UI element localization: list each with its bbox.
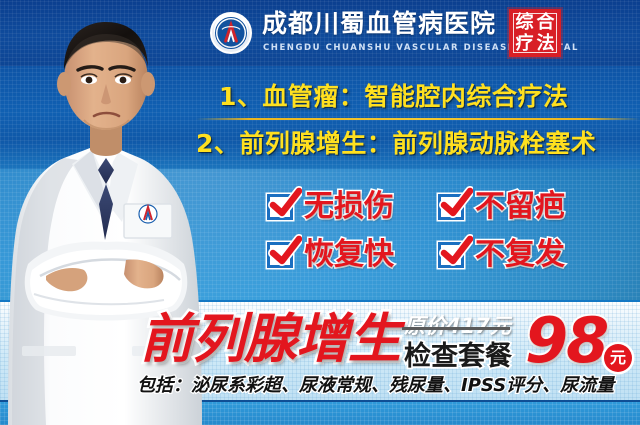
- original-price-strikethrough: [402, 327, 510, 330]
- stamp-char-0: 综: [514, 12, 535, 33]
- benefit-label: 无损伤: [304, 190, 394, 224]
- check-mark-icon: [268, 186, 302, 220]
- original-price: 原价417元: [404, 314, 511, 339]
- original-price-text: 原价417元: [404, 314, 511, 338]
- benefit-item-3: 不复发: [437, 238, 565, 272]
- hospital-emblem-icon: [210, 12, 252, 54]
- advertisement-banner: 成都川蜀血管病医院 CHENGDU CHUANSHU VASCULAR DISE…: [0, 0, 640, 425]
- package-label: 检查套餐: [404, 341, 512, 373]
- benefit-label: 恢复快: [304, 238, 394, 272]
- benefit-item-0: 无损伤: [266, 190, 394, 224]
- benefit-item-1: 不留疤: [437, 190, 565, 224]
- checkbox-checked-icon: [266, 192, 300, 222]
- checkbox-checked-icon: [437, 240, 471, 270]
- headline-divider: [196, 118, 640, 120]
- headline-item-2: 2、前列腺增生：前列腺动脉栓塞术: [196, 129, 596, 159]
- check-mark-icon: [439, 186, 473, 220]
- benefit-label: 不留疤: [475, 190, 565, 224]
- checkbox-checked-icon: [266, 240, 300, 270]
- check-mark-icon: [268, 234, 302, 268]
- hospital-name-cn: 成都川蜀血管病医院: [262, 9, 496, 39]
- price-unit: 元: [604, 344, 632, 372]
- benefit-item-2: 恢复快: [266, 238, 394, 272]
- package-includes: 包括：泌尿系彩超、尿液常规、残尿量、IPSS评分、尿流量: [137, 374, 614, 398]
- stamp-inner-border: 综 合 疗 法: [513, 13, 557, 53]
- comprehensive-therapy-stamp: 综 合 疗 法: [509, 9, 561, 57]
- check-mark-icon: [439, 234, 473, 268]
- headline-item-1: 1、血管瘤：智能腔内综合疗法: [219, 82, 568, 112]
- checkbox-checked-icon: [437, 192, 471, 222]
- price-number: 98: [525, 307, 607, 375]
- stamp-char-2: 疗: [514, 33, 535, 54]
- promo-title: 前列腺增生: [140, 310, 400, 370]
- stamp-char-1: 合: [535, 12, 556, 33]
- emblem-figure-icon: [212, 14, 250, 52]
- stamp-char-3: 法: [535, 33, 556, 54]
- benefit-label: 不复发: [475, 238, 565, 272]
